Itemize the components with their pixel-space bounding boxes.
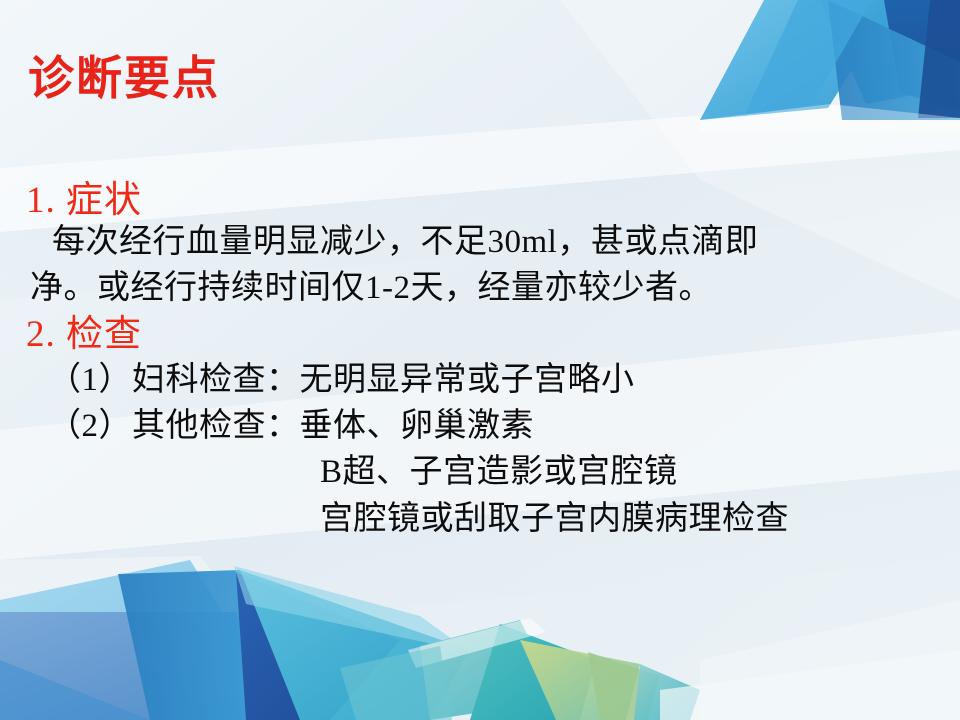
slide-content: 诊断要点 1. 症状 每次经行血量明显减少，不足30ml，甚或点滴即 净。或经行… — [0, 0, 960, 720]
symptoms-line-1: 每次经行血量明显减少，不足30ml，甚或点滴即 — [52, 226, 758, 259]
examination-item-2-sub-2: 宫腔镜或刮取子宫内膜病理检查 — [320, 503, 789, 536]
symptoms-line-2: 净。或经行持续时间仅1-2天，经量亦较少者。 — [30, 272, 712, 305]
section-heading-symptoms: 1. 症状 — [26, 182, 142, 219]
section-heading-examination: 2. 检查 — [26, 316, 142, 353]
examination-item-2: （2）其他检查：垂体、卵巢激素 — [48, 410, 534, 443]
examination-item-1: （1）妇科检查：无明显异常或子宫略小 — [48, 364, 635, 397]
slide-canvas: 诊断要点 1. 症状 每次经行血量明显减少，不足30ml，甚或点滴即 净。或经行… — [0, 0, 960, 720]
page-title: 诊断要点 — [28, 56, 220, 102]
examination-item-2-sub-1: B超、子宫造影或宫腔镜 — [320, 456, 678, 489]
